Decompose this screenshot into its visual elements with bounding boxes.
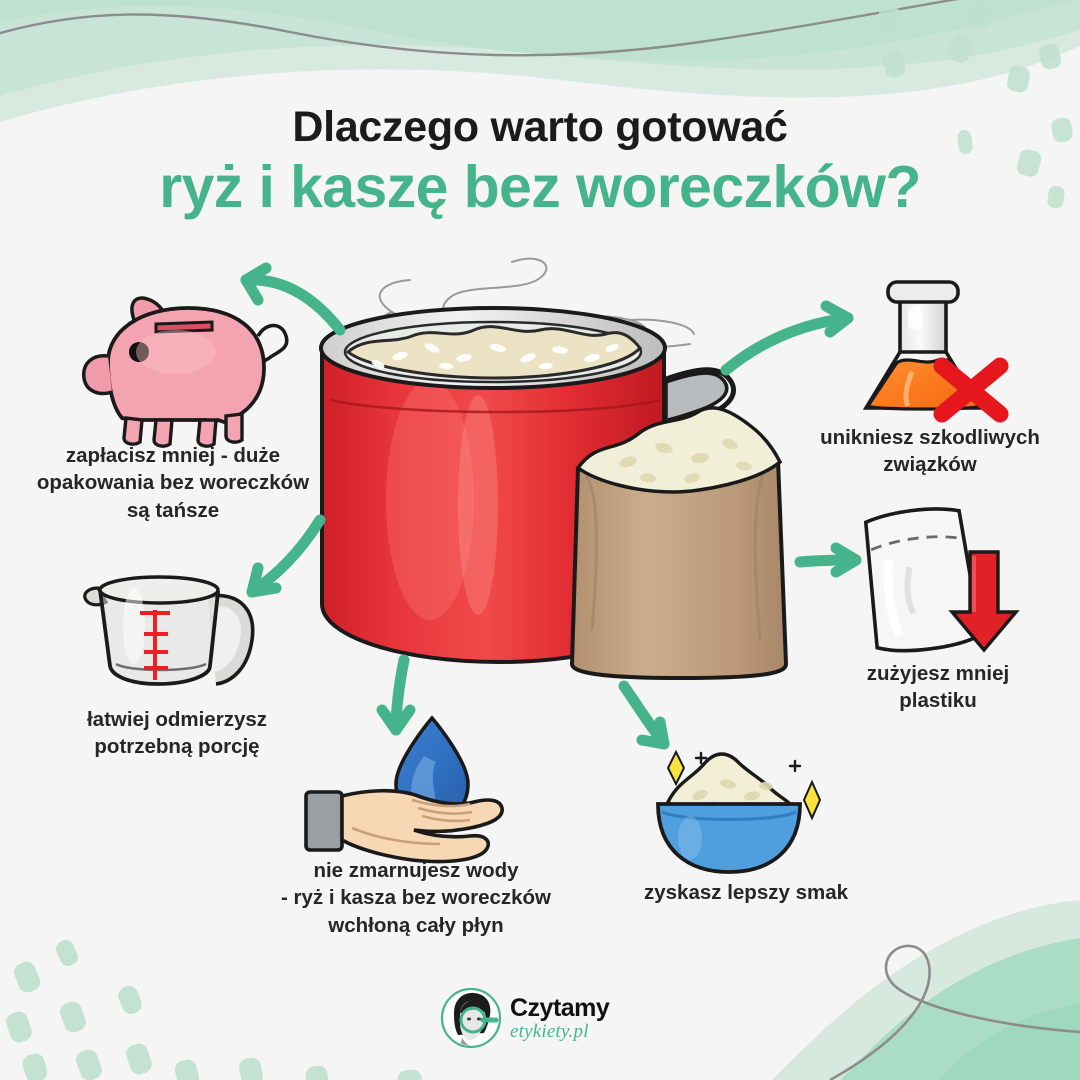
- infographic-canvas: Dlaczego warto gotować ryż i kaszę bez w…: [0, 0, 1080, 1080]
- page-title: Dlaczego warto gotować ryż i kaszę bez w…: [0, 104, 1080, 221]
- caption-measuring-cup: łatwiej odmierzysz potrzebną porcję: [22, 706, 332, 761]
- caption-piggy-line-2: opakowania bez woreczków: [8, 469, 338, 496]
- caption-cup-line-1: łatwiej odmierzysz: [22, 706, 332, 733]
- caption-taste-line-1: zyskasz lepszy smak: [596, 879, 896, 906]
- caption-piggy-bank: zapłacisz mniej - duże opakowania bez wo…: [8, 442, 338, 524]
- caption-better-taste: zyskasz lepszy smak: [596, 879, 896, 906]
- text-layer: Dlaczego warto gotować ryż i kaszę bez w…: [0, 0, 1080, 1080]
- caption-water-saving: nie zmarnujesz wody - ryż i kasza bez wo…: [248, 857, 584, 939]
- logo-subtitle: etykiety.pl: [510, 1022, 609, 1041]
- caption-plastic-line-1: zużyjesz mniej: [798, 660, 1078, 687]
- logo-name: Czytamy: [510, 996, 609, 1021]
- caption-piggy-line-3: są tańsze: [8, 497, 338, 524]
- brand-logo[interactable]: Czytamy etykiety.pl: [440, 985, 660, 1051]
- caption-no-chemicals: unikniesz szkodliwych związków: [782, 424, 1078, 479]
- woman-face-magnifier-icon: [440, 987, 502, 1049]
- caption-water-line-2: - ryż i kasza bez woreczków: [248, 884, 584, 911]
- title-line-2: ryż i kaszę bez woreczków?: [0, 154, 1080, 220]
- caption-plastic-line-2: plastiku: [798, 687, 1078, 714]
- caption-chem-line-2: związków: [782, 451, 1078, 478]
- caption-cup-line-2: potrzebną porcję: [22, 733, 332, 760]
- caption-less-plastic: zużyjesz mniej plastiku: [798, 660, 1078, 715]
- caption-water-line-3: wchłoną cały płyn: [248, 912, 584, 939]
- caption-chem-line-1: unikniesz szkodliwych: [782, 424, 1078, 451]
- caption-water-line-1: nie zmarnujesz wody: [248, 857, 584, 884]
- caption-piggy-line-1: zapłacisz mniej - duże: [8, 442, 338, 469]
- logo-text: Czytamy etykiety.pl: [510, 996, 609, 1041]
- title-line-1: Dlaczego warto gotować: [0, 104, 1080, 150]
